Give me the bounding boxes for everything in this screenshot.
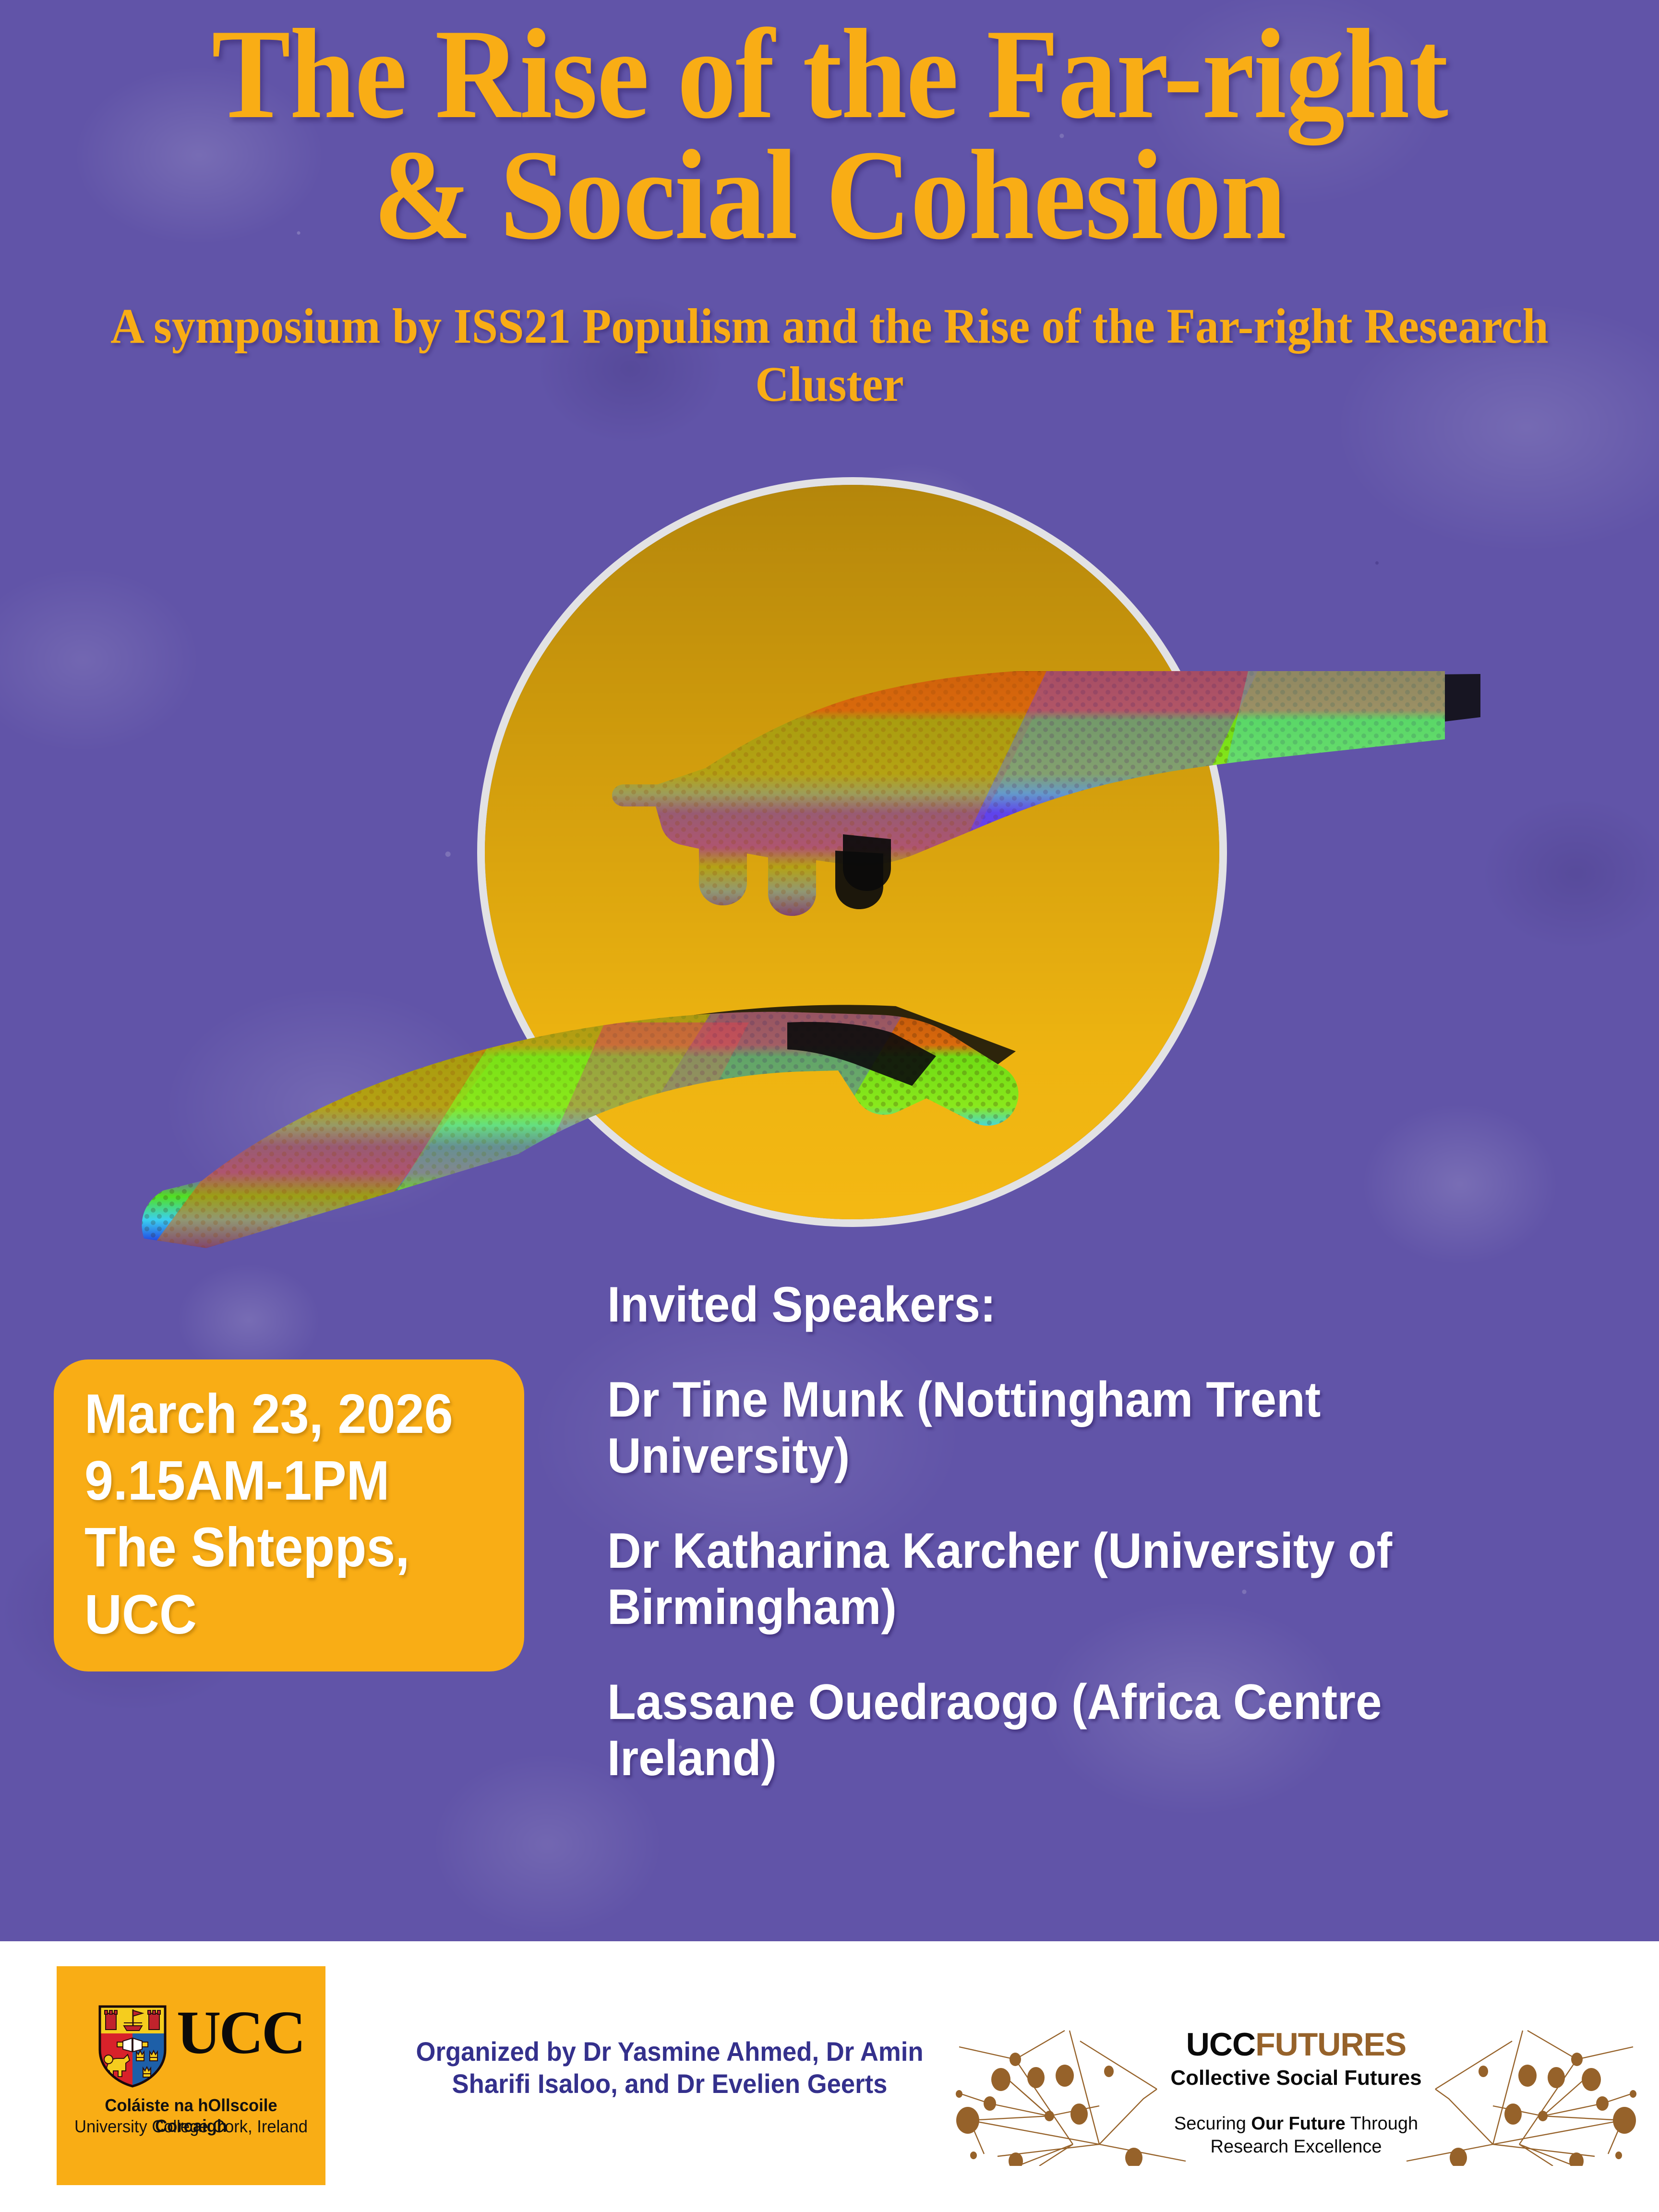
ucc-futures-text: UCCFUTURES Collective Social Futures Sec… <box>1128 2028 1464 2159</box>
ucc-futures-strapline: Securing Our Future ThroughResearch Exce… <box>1128 2112 1464 2159</box>
title-line-2: & Social Cohesion <box>66 134 1593 255</box>
event-details-card: March 23, 2026 9.15AM-1PM The Shtepps, U… <box>54 1359 524 1671</box>
speaker-item: Dr Katharina Karcher (University of Birm… <box>607 1523 1537 1635</box>
ucc-logo: UCC Coláiste na hOllscoile Corcaigh Univ… <box>57 1966 325 2185</box>
speakers-heading: Invited Speakers: <box>607 1278 1537 1332</box>
strapline-line2: Research Excellence <box>1211 2137 1382 2157</box>
poster-title: The Rise of the Far-right & Social Cohes… <box>66 13 1593 255</box>
ucc-wordmark: UCC <box>177 2002 304 2063</box>
speaker-item: Lassane Ouedraogo (Africa Centre Ireland… <box>607 1674 1537 1786</box>
strapline-post: Through <box>1346 2114 1418 2134</box>
speaker-item: Dr Tine Munk (Nottingham Trent Universit… <box>607 1372 1537 1484</box>
organizers-credit: Organized by Dr Yasmine Ahmed, Dr Amin S… <box>415 2035 925 2100</box>
futures-brand-part2: FUTURES <box>1255 2026 1406 2063</box>
event-details-text: March 23, 2026 9.15AM-1PM The Shtepps, U… <box>84 1381 486 1648</box>
ucc-futures-tagline: Collective Social Futures <box>1128 2067 1464 2090</box>
artwork-region <box>0 470 1659 1258</box>
ucc-english-name: University College Cork, Ireland <box>73 2116 309 2137</box>
futures-brand-part1: UCC <box>1186 2026 1255 2063</box>
reaching-hands-illustration <box>0 470 1659 1258</box>
poster-subtitle: A symposium by ISS21 Populism and the Ri… <box>50 298 1610 413</box>
ucc-futures-brand: UCCFUTURES <box>1128 2028 1464 2062</box>
upper-hand <box>538 662 1480 931</box>
strapline-pre: Securing <box>1174 2114 1251 2134</box>
poster-root: The Rise of the Far-right & Social Cohes… <box>0 0 1659 2212</box>
strapline-bold: Our Future <box>1251 2114 1345 2134</box>
invited-speakers-block: Invited Speakers: Dr Tine Munk (Nottingh… <box>607 1278 1537 1786</box>
lower-hand <box>125 998 1037 1258</box>
ucc-futures-logo: UCCFUTURES Collective Social Futures Sec… <box>955 2022 1637 2180</box>
ucc-crest-icon <box>96 2004 169 2089</box>
